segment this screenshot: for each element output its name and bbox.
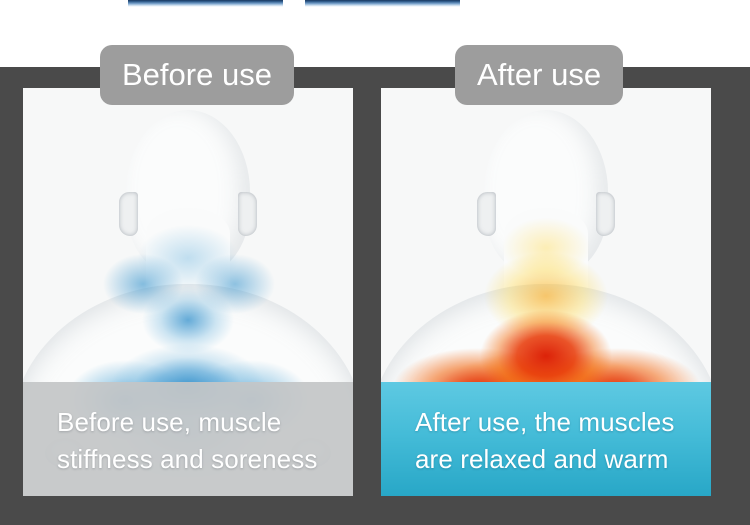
ear-right-icon	[596, 192, 615, 236]
ear-left-icon	[477, 192, 496, 236]
badge-before-use: Before use	[100, 45, 294, 105]
ear-right-icon	[238, 192, 257, 236]
comparison-graphic: Before use, muscle stiffness and sorenes…	[0, 0, 750, 525]
caption-after-use: After use, the muscles are relaxed and w…	[381, 382, 711, 496]
top-cropped-strip-left	[128, 0, 283, 7]
panel-after-use: After use, the muscles are relaxed and w…	[381, 88, 711, 496]
ear-left-icon	[119, 192, 138, 236]
caption-before-use: Before use, muscle stiffness and sorenes…	[23, 382, 353, 496]
panel-before-use: Before use, muscle stiffness and sorenes…	[23, 88, 353, 496]
badge-after-use: After use	[455, 45, 623, 105]
top-cropped-strip-right	[305, 0, 460, 7]
